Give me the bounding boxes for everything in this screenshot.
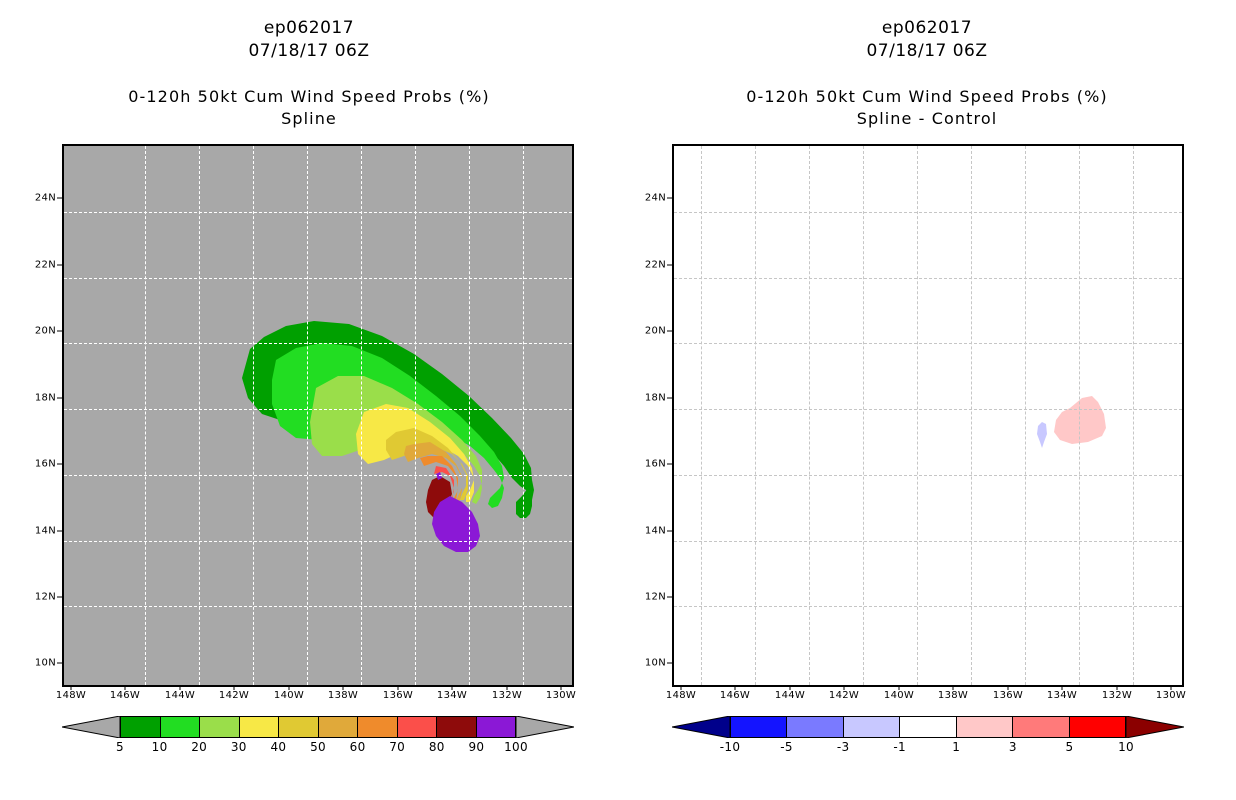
x-tick-label: 138W (320, 690, 366, 701)
x-tick-label: 134W (1039, 690, 1085, 701)
colorbar-tick: 20 (191, 740, 207, 754)
left-title-block: ep062017 07/18/17 06Z 0-120h 50kt Cum Wi… (0, 18, 618, 128)
right-datetime: 07/18/17 06Z (618, 41, 1236, 61)
right-title-block: ep062017 07/18/17 06Z 0-120h 50kt Cum Wi… (618, 18, 1236, 128)
colorbar-arrow-low (62, 716, 120, 738)
right-colorbar-labels: -10 -5 -3 -1 1 3 5 10 (730, 740, 1126, 756)
y-tick-label: 20N (16, 326, 56, 337)
colorbar-tick: -5 (780, 740, 793, 754)
y-tick-label: 10N (626, 658, 666, 669)
colorbar-tick: 70 (389, 740, 405, 754)
x-tick-label: 140W (876, 690, 922, 701)
right-colorbar-segments (730, 716, 1126, 738)
left-datetime: 07/18/17 06Z (0, 41, 618, 61)
x-tick-label: 134W (429, 690, 475, 701)
left-storm-id: ep062017 (0, 18, 618, 38)
y-tick-label: 16N (626, 459, 666, 470)
colorbar-tick: 50 (310, 740, 326, 754)
x-tick-label: 138W (930, 690, 976, 701)
colorbar-tick: 5 (1065, 740, 1073, 754)
colorbar-tick: 10 (152, 740, 168, 754)
x-tick-label: 146W (712, 690, 758, 701)
x-tick-label: 130W (538, 690, 584, 701)
y-tick-label: 12N (626, 592, 666, 603)
colorbar-tick: 5 (116, 740, 124, 754)
colorbar-arrow-negative (672, 716, 730, 738)
y-tick-label: 16N (16, 459, 56, 470)
y-tick-label: 22N (16, 260, 56, 271)
x-tick-label: 132W (1094, 690, 1140, 701)
right-chart-subtitle: Spline - Control (618, 109, 1236, 128)
y-tick-label: 22N (626, 260, 666, 271)
colorbar-tick: 60 (350, 740, 366, 754)
y-tick-label: 14N (626, 526, 666, 537)
y-tick-label: 10N (16, 658, 56, 669)
y-tick-label: 24N (626, 193, 666, 204)
colorbar-tick: 3 (1009, 740, 1017, 754)
colorbar-tick: 1 (952, 740, 960, 754)
x-tick-label: 144W (157, 690, 203, 701)
right-storm-id: ep062017 (618, 18, 1236, 38)
colorbar-tick: -1 (893, 740, 906, 754)
x-tick-label: 136W (985, 690, 1031, 701)
colorbar-tick: 10 (1118, 740, 1134, 754)
left-chart-subtitle: Spline (0, 109, 618, 128)
x-tick-label: 142W (821, 690, 867, 701)
left-plot-area (62, 144, 574, 687)
colorbar-tick: -3 (837, 740, 850, 754)
colorbar-tick: 90 (468, 740, 484, 754)
x-tick-label: 142W (211, 690, 257, 701)
x-tick-label: 136W (375, 690, 421, 701)
x-tick-label: 148W (658, 690, 704, 701)
colorbar-tick: 80 (429, 740, 445, 754)
left-gridlines (64, 146, 572, 685)
y-tick-label: 12N (16, 592, 56, 603)
colorbar-arrow-high (516, 716, 574, 738)
x-tick-label: 130W (1148, 690, 1194, 701)
y-tick-label: 24N (16, 193, 56, 204)
y-tick-label: 14N (16, 526, 56, 537)
left-colorbar: 5 10 20 30 40 50 60 70 80 90 100 (62, 716, 574, 742)
right-chart-title: 0-120h 50kt Cum Wind Speed Probs (%) (618, 87, 1236, 106)
x-tick-label: 146W (102, 690, 148, 701)
x-tick-label: 148W (48, 690, 94, 701)
left-colorbar-segments (120, 716, 516, 738)
y-tick-label: 18N (16, 393, 56, 404)
y-tick-label: 18N (626, 393, 666, 404)
left-chart-title: 0-120h 50kt Cum Wind Speed Probs (%) (0, 87, 618, 106)
x-tick-label: 132W (484, 690, 530, 701)
colorbar-tick: 30 (231, 740, 247, 754)
colorbar-tick: 100 (504, 740, 528, 754)
right-gridlines (674, 146, 1182, 685)
y-tick-label: 20N (626, 326, 666, 337)
right-colorbar: -10 -5 -3 -1 1 3 5 10 (672, 716, 1184, 742)
left-colorbar-labels: 5 10 20 30 40 50 60 70 80 90 100 (120, 740, 516, 756)
colorbar-tick: -10 (720, 740, 741, 754)
right-plot-area (672, 144, 1184, 687)
colorbar-arrow-positive (1126, 716, 1184, 738)
panel-spline: ep062017 07/18/17 06Z 0-120h 50kt Cum Wi… (0, 0, 618, 800)
colorbar-tick: 40 (270, 740, 286, 754)
x-tick-label: 140W (266, 690, 312, 701)
x-tick-label: 144W (767, 690, 813, 701)
